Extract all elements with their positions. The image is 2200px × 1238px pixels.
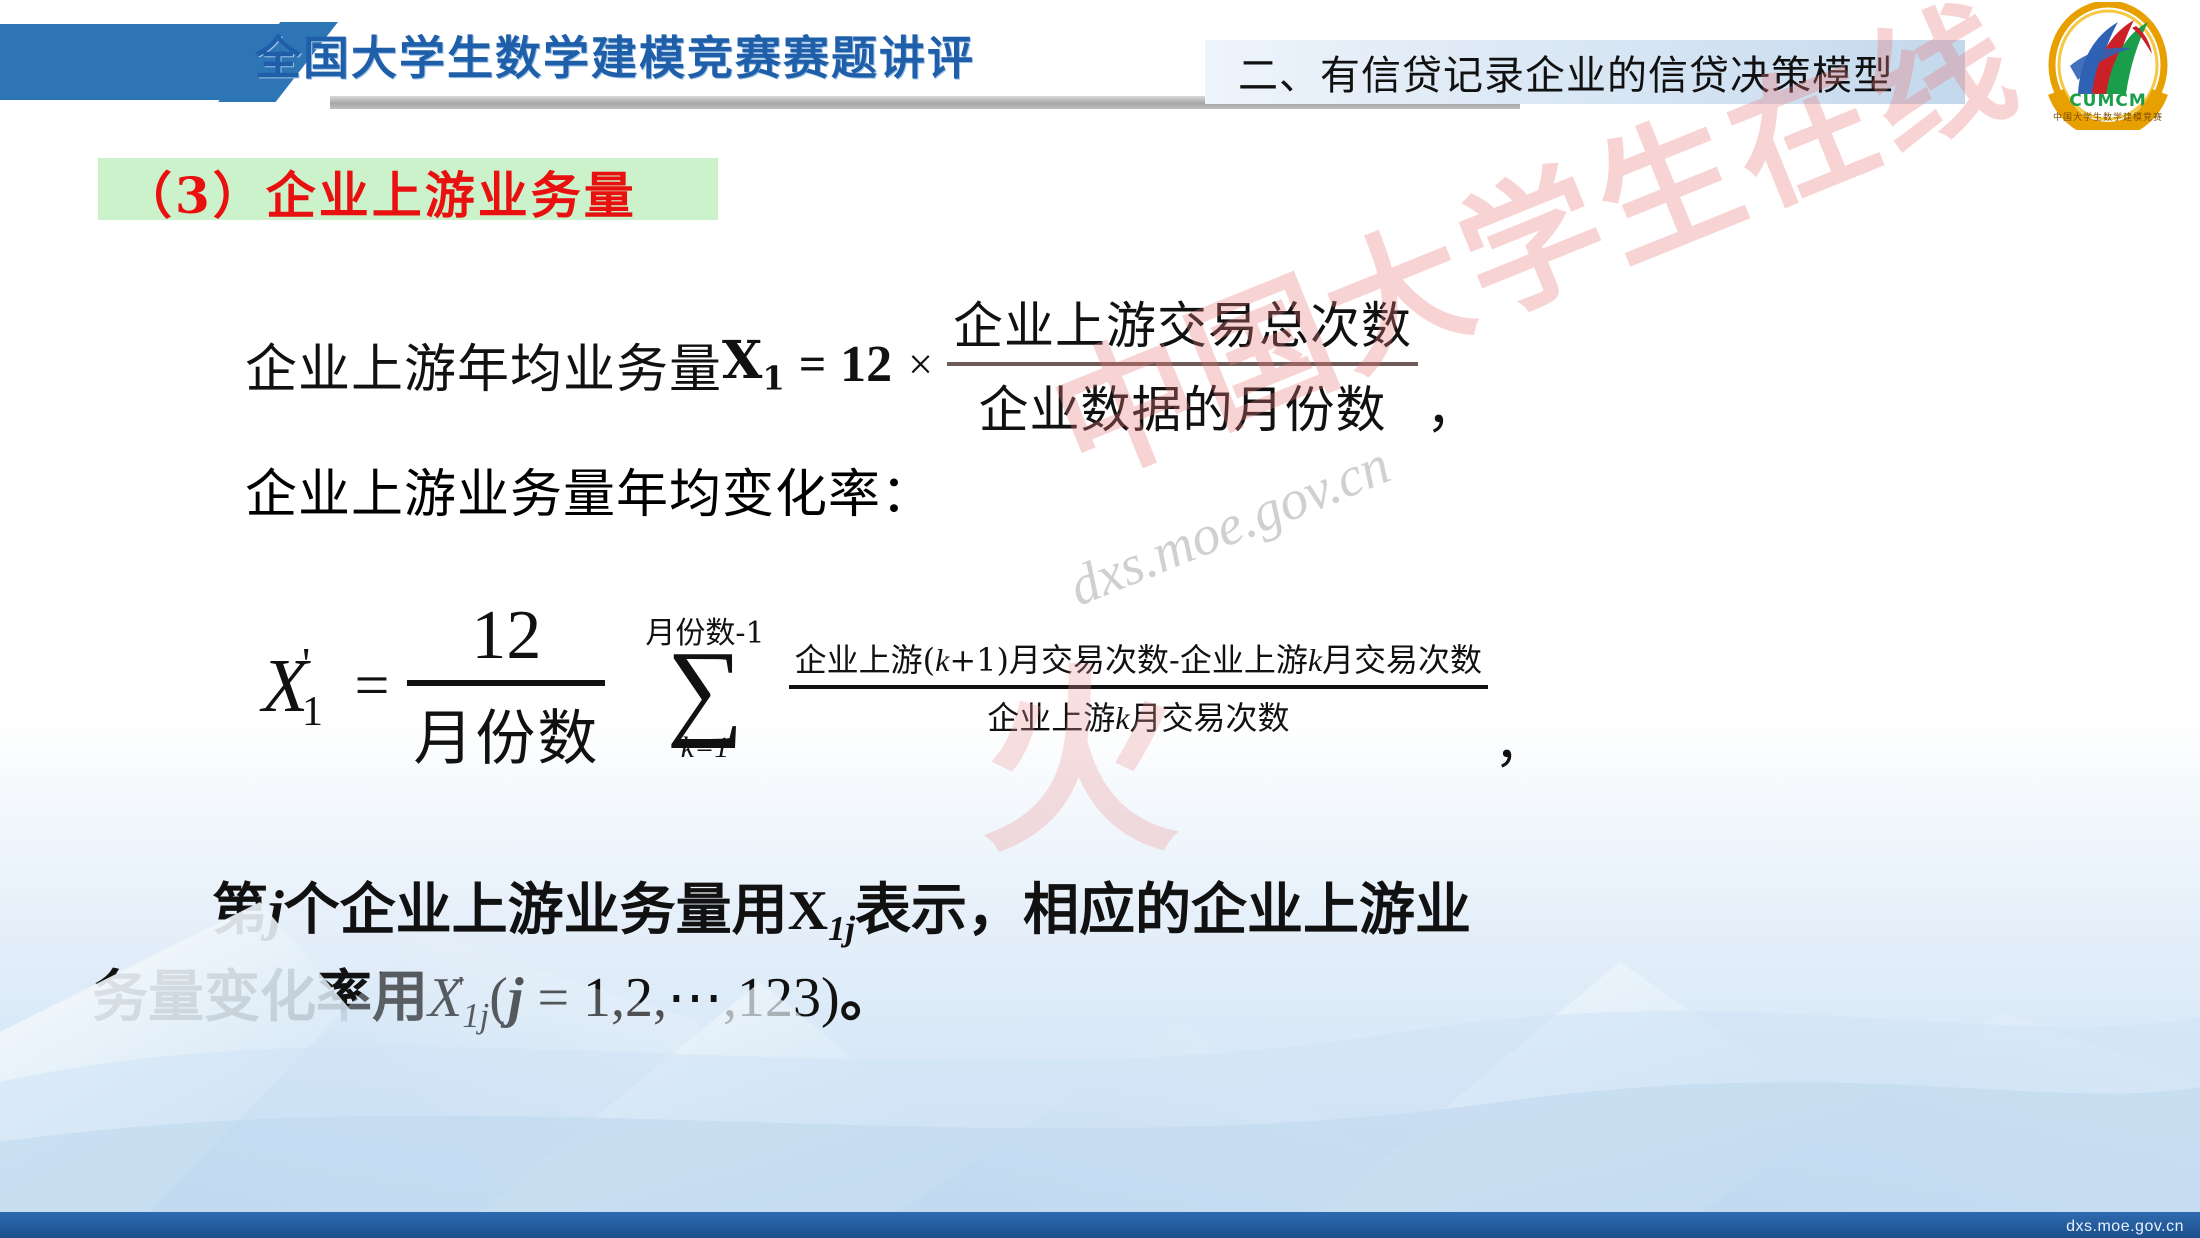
term-num-part-d: 月交易次数 [1322, 641, 1482, 679]
term-den-part-a: 企业上游 [987, 699, 1115, 737]
formula1-times-sign: × [908, 339, 933, 390]
para-part-7: = 1,2, [523, 967, 667, 1029]
formula1-variable-subscript: 1 [762, 360, 784, 398]
term-num-part-b: +1)月交易次数 [949, 641, 1169, 679]
term-den-part-b: 月交易次数 [1129, 699, 1289, 737]
cumcm-logo: CUMCM 中国大学生数学建模竞赛 [2034, 2, 2182, 130]
para-variable-x1j: X1j [788, 880, 855, 942]
section-heading-band: （3）企业上游业务量 [98, 158, 718, 220]
section-title: 二、有信贷记录企业的信贷决策模型 [1238, 40, 1978, 104]
para-x1-letter: X [788, 880, 828, 942]
para-part-9: 。 [840, 964, 896, 1030]
para-index-j2: j [508, 967, 524, 1029]
formula1-coefficient: 12 [840, 335, 892, 394]
summation-index-value: =1 [694, 731, 729, 764]
para-variable-x1j-prime: X'1j [428, 967, 489, 1029]
cumcm-logo-icon: CUMCM 中国大学生数学建模竞赛 [2034, 2, 2182, 130]
term-num-part-c: 企业上游 [1180, 641, 1308, 679]
formula1-variable-letter: X [722, 330, 762, 391]
formula2-trailing-comma: ， [1494, 702, 1546, 777]
para-part-3: 表示 [855, 877, 967, 943]
slide-canvas: 全国大学生数学建模竞赛赛题讲评 二、有信贷记录企业的信贷决策模型 CUMCM 中… [0, 0, 2200, 1238]
formula-average-upstream-volume: 企业上游年均业务量 X1 = 12 × 企业上游交易总次数 企业数据的月份数 ， [245, 286, 1478, 442]
closing-paragraph: 第j个企业上游业务量用X1j表示，相应的企业上游业务量变化率用X'1j(j = … [92, 868, 2092, 1042]
para-part-6: ( [489, 967, 508, 1029]
para-x2-subscript: 1j [462, 996, 489, 1035]
change-rate-label: 企业上游业务量年均变化率： [245, 452, 934, 527]
formula2-term-numerator: 企业上游(k+1)月交易次数-企业上游k月交易次数 [789, 635, 1488, 681]
term-num-minus: - [1169, 641, 1180, 679]
term-num-k: k [935, 642, 949, 678]
formula2-variable-prime: ' [302, 637, 310, 690]
para-part-5: 务量变化率用 [92, 964, 428, 1030]
section-heading-text: （3）企业上游业务量 [122, 156, 637, 228]
formula2-coefficient-fraction: 12 月份数 [407, 596, 605, 777]
term-num-part-a: 企业上游( [795, 641, 936, 679]
formula2-term-fraction: 企业上游(k+1)月交易次数-企业上游k月交易次数 企业上游k月交易次数 [789, 635, 1488, 739]
term-num-k2: k [1308, 642, 1322, 678]
formula2-frac-numerator: 12 [465, 596, 547, 676]
formula2-variable-subscript: 1 [302, 688, 323, 736]
para-part-4: ，相应的企业上游业 [967, 877, 1471, 943]
para-ellipsis: ⋯ [667, 967, 723, 1029]
summation-sigma-icon: ∑ [667, 646, 744, 735]
footer-url: dxs.moe.gov.cn [2066, 1218, 2184, 1236]
footer-bar: dxs.moe.gov.cn [0, 1212, 2200, 1238]
watermark-gray-url: dxs.moe.gov.cn [1060, 433, 1399, 620]
para-x2-prime: ' [458, 963, 464, 1014]
summation-operator: 月份数-1 ∑ k=1 [645, 608, 764, 765]
formula1-fraction: 企业上游交易总次数 企业数据的月份数 [947, 286, 1418, 442]
formula-average-change-rate: X'1 = 12 月份数 月份数-1 ∑ k=1 企业上游(k+1)月交易次数-… [262, 596, 1546, 777]
brand-title: 全国大学生数学建模竞赛赛题讲评 [255, 22, 975, 88]
formula1-fraction-bar [947, 362, 1418, 366]
slide-header: 全国大学生数学建模竞赛赛题讲评 二、有信贷记录企业的信贷决策模型 CUMCM 中… [0, 0, 2200, 130]
para-x1-subscript: 1j [828, 909, 855, 948]
para-index-j1: j [268, 880, 284, 942]
formula2-term-bar [789, 685, 1488, 689]
formula1-equals: = [799, 337, 826, 392]
formula2-variable: X'1 [262, 643, 308, 730]
formula1-numerator: 企业上游交易总次数 [947, 286, 1418, 358]
para-part-2: 个企业上游业务量用 [284, 877, 788, 943]
formula1-variable: X1 [722, 330, 785, 397]
para-part-1: 第 [212, 877, 268, 943]
svg-text:CUMCM: CUMCM [2069, 91, 2147, 111]
svg-text:中国大学生数学建模竞赛: 中国大学生数学建模竞赛 [2053, 111, 2163, 123]
formula1-trailing-comma: ， [1426, 367, 1478, 442]
summation-lower-limit: k=1 [681, 731, 730, 765]
formula2-frac-denominator: 月份数 [407, 690, 605, 777]
formula2-equals: = [354, 651, 389, 722]
formula2-term-denominator: 企业上游k月交易次数 [981, 693, 1295, 739]
formula1-denominator: 企业数据的月份数 [973, 370, 1393, 442]
term-den-k: k [1115, 700, 1129, 736]
para-part-8: ,123) [723, 967, 840, 1029]
formula1-lead-label: 企业上游年均业务量 [245, 327, 722, 402]
formula2-frac-bar [407, 680, 605, 686]
summation-index-letter: k [681, 731, 694, 764]
